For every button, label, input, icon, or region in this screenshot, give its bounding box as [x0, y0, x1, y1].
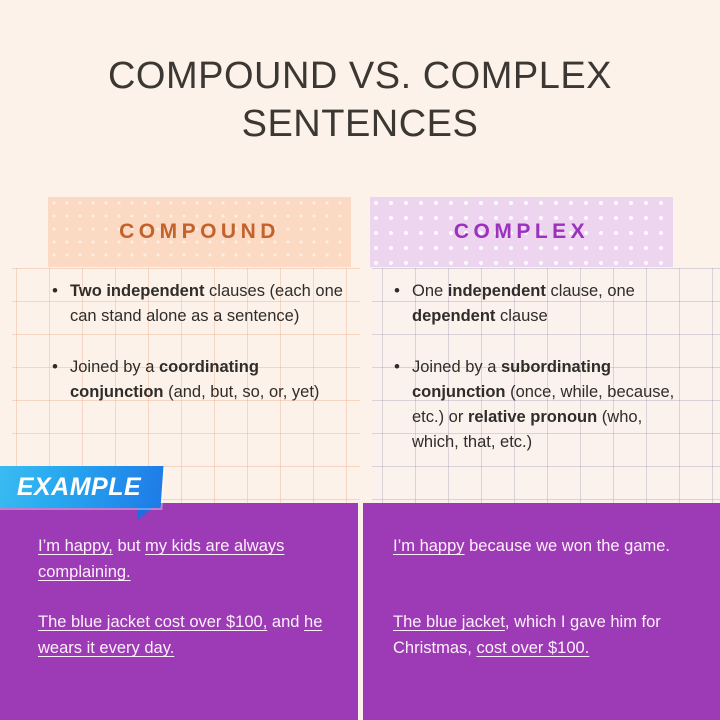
bullet-item: One independent clause, one dependent cl…: [390, 279, 690, 329]
bullet-list-compound: Two independent clauses (each one can st…: [48, 279, 348, 431]
page-title: COMPOUND VS. COMPLEX SENTENCES: [0, 52, 720, 148]
example-ribbon-tail: [137, 507, 153, 521]
example-sentence-complex-1: I’m happy because we won the game.: [393, 533, 683, 559]
example-panel-divider: [358, 503, 363, 720]
example-ribbon-label: EXAMPLE: [0, 466, 162, 508]
example-ribbon: EXAMPLE: [0, 466, 163, 508]
column-header-compound: COMPOUND: [48, 197, 351, 267]
bullet-list-complex: One independent clause, one dependent cl…: [390, 279, 690, 481]
bullet-item: Joined by a coordinating conjunction (an…: [48, 355, 348, 405]
example-sentence-compound-2: The blue jacket cost over $100, and he w…: [38, 609, 338, 661]
column-header-complex: COMPLEX: [370, 197, 673, 267]
infographic-canvas: COMPOUND VS. COMPLEX SENTENCES COMPOUND …: [0, 0, 720, 720]
bullet-item: Joined by a subordinating conjunction (o…: [390, 355, 690, 455]
bullet-item: Two independent clauses (each one can st…: [48, 279, 348, 329]
example-sentence-compound-1: I’m happy, but my kids are always compla…: [38, 533, 338, 585]
example-sentence-complex-2: The blue jacket, which I gave him for Ch…: [393, 609, 683, 661]
